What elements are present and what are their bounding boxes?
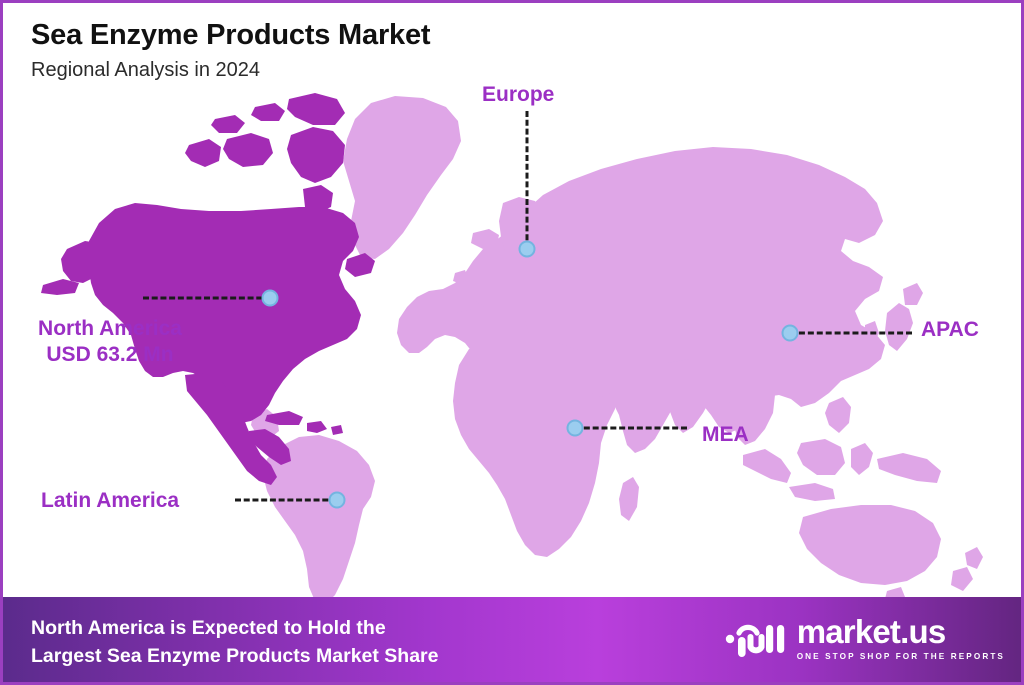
- region-java: [789, 483, 835, 501]
- region-greenland: [343, 96, 461, 259]
- region-hokkaido: [903, 283, 923, 305]
- label-north-america[interactable]: North America USD 63.2 Mn: [15, 316, 205, 367]
- marker-mea[interactable]: [567, 420, 584, 437]
- connector-apac: [790, 332, 912, 335]
- label-apac-name: APAC: [921, 318, 979, 341]
- region-ellesmere-island: [287, 93, 345, 125]
- market-us-logo[interactable]: market.us ONE STOP SHOP FOR THE REPORTS: [725, 615, 1005, 661]
- marker-north-america[interactable]: [262, 290, 279, 307]
- region-borneo: [797, 439, 845, 475]
- bottom-banner: North America is Expected to Hold the La…: [3, 597, 1024, 682]
- region-new-zealand: [965, 547, 983, 569]
- region-philippines: [825, 397, 851, 433]
- marker-apac[interactable]: [782, 325, 799, 342]
- label-mea[interactable]: MEA: [702, 422, 749, 448]
- region-sumatra: [743, 449, 791, 483]
- infographic-root: Sea Enzyme Products Market Regional Anal…: [0, 0, 1024, 685]
- logo-tagline: ONE STOP SHOP FOR THE REPORTS: [797, 653, 1005, 661]
- logo-wordmark: market.us: [797, 615, 1005, 648]
- region-arctic-islets-1: [251, 103, 285, 121]
- banner-line-1: North America is Expected to Hold the: [31, 615, 439, 643]
- label-north-america-value: USD 63.2 Mn: [15, 342, 205, 368]
- region-sulawesi: [851, 443, 873, 475]
- map-highlight-north-america: [41, 93, 375, 485]
- market-us-bars-icon: [725, 617, 787, 659]
- region-puerto-rico: [331, 425, 343, 435]
- region-madagascar: [619, 477, 639, 521]
- connector-mea: [575, 427, 687, 430]
- region-australia: [799, 505, 941, 585]
- logo-text-block: market.us ONE STOP SHOP FOR THE REPORTS: [797, 615, 1005, 661]
- label-latin-america-name: Latin America: [41, 489, 179, 512]
- marker-europe[interactable]: [519, 241, 536, 258]
- label-north-america-name: North America: [38, 317, 182, 340]
- marker-latin-america[interactable]: [329, 492, 346, 509]
- region-aleutians: [41, 279, 79, 295]
- connector-north-america: [143, 297, 271, 300]
- label-latin-america[interactable]: Latin America: [41, 488, 179, 514]
- connector-latin-america: [235, 499, 337, 502]
- region-banks-island: [185, 139, 221, 167]
- label-europe[interactable]: Europe: [482, 82, 554, 108]
- banner-line-2: Largest Sea Enzyme Products Market Share: [31, 643, 439, 671]
- map-base-regions: [251, 96, 983, 603]
- region-victoria-island: [223, 133, 273, 167]
- region-japan: [885, 303, 913, 351]
- region-new-zealand-south: [951, 567, 973, 591]
- label-apac[interactable]: APAC: [921, 317, 979, 343]
- label-mea-name: MEA: [702, 423, 749, 446]
- region-new-guinea: [877, 453, 941, 483]
- region-baffin-island: [287, 127, 345, 183]
- connector-europe: [526, 111, 529, 249]
- label-europe-name: Europe: [482, 83, 554, 106]
- banner-statement: North America is Expected to Hold the La…: [31, 615, 439, 670]
- page-title: Sea Enzyme Products Market: [31, 19, 430, 52]
- region-arctic-islets-2: [211, 115, 245, 133]
- region-hispaniola: [307, 421, 327, 433]
